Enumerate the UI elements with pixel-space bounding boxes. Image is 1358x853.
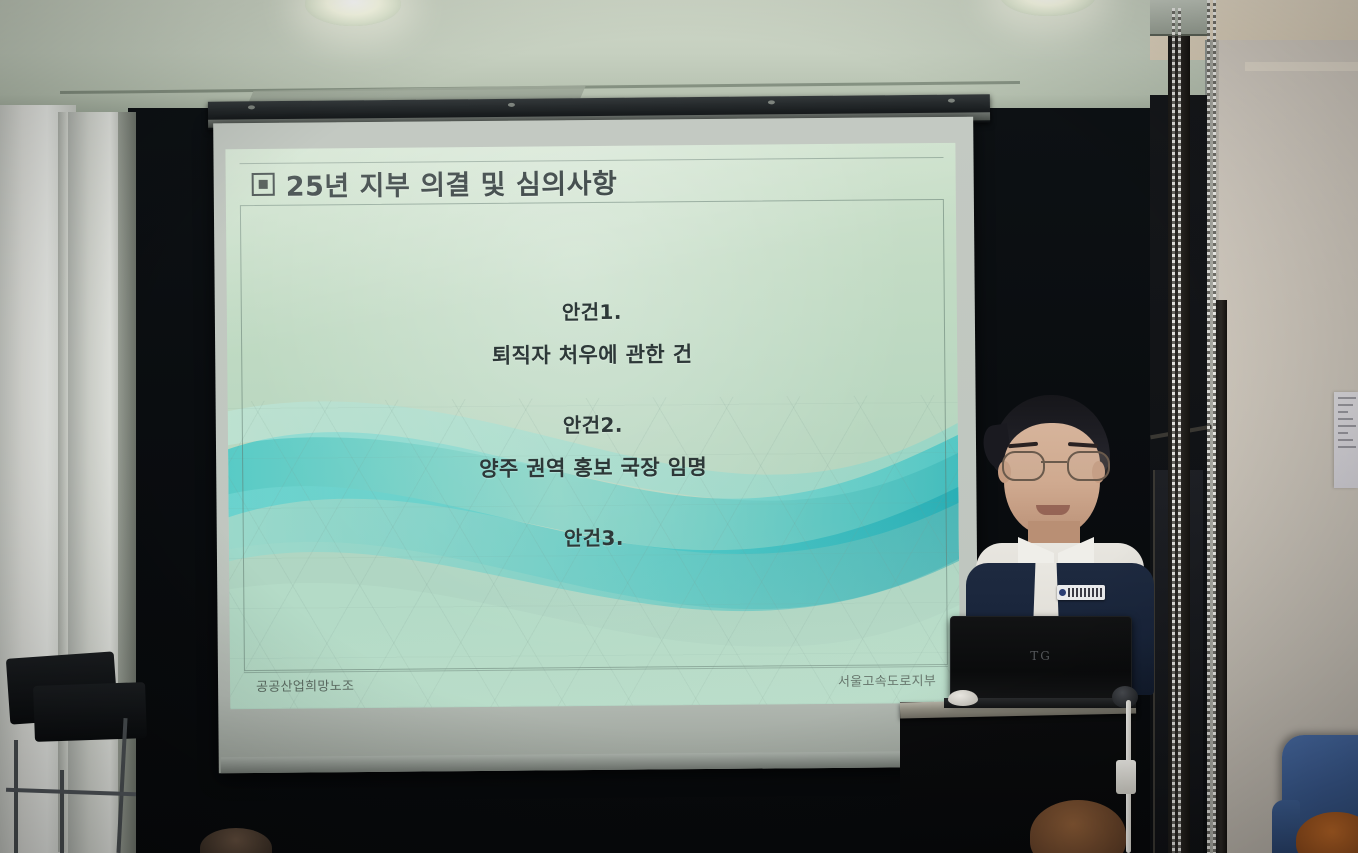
left-pillar-shadow (118, 112, 136, 853)
power-adapter-brick (1116, 760, 1136, 794)
projected-slide: 25년 지부 의결 및 심의사항 안건1. 퇴직자 처우에 관한 건 안건2. … (225, 143, 960, 709)
desk-object (1112, 686, 1138, 708)
glasses-icon (998, 451, 1110, 477)
slide-agenda-list: 안건1. 퇴직자 처우에 관한 건 안건2. 양주 권역 홍보 국장 임명 안건… (227, 293, 960, 594)
agenda-text (229, 562, 959, 568)
agenda-number: 안건3. (229, 519, 959, 554)
blind-pull-chain[interactable] (1213, 0, 1216, 853)
presenter-mouth (1036, 505, 1070, 515)
agenda-text: 퇴직자 처우에 관한 건 (227, 336, 957, 372)
slide-title: 25년 지부 의결 및 심의사항 (252, 162, 618, 204)
projector-screen: 25년 지부 의결 및 심의사항 안건1. 퇴직자 처우에 관한 건 안건2. … (213, 117, 979, 774)
agenda-number: 안건1. (227, 293, 957, 328)
right-wall-trim (1245, 62, 1358, 71)
footer-left-text: 공공산업희망노조 (256, 675, 354, 695)
agenda-text: 양주 권역 홍보 국장 임명 (228, 449, 958, 485)
footer-right-text: 서울고속도로지부 (838, 670, 936, 690)
presentation-room-photo: 25년 지부 의결 및 심의사항 안건1. 퇴직자 처우에 관한 건 안건2. … (0, 0, 1358, 853)
filled-square-bullet-icon (252, 173, 275, 196)
window-frame (1215, 300, 1227, 853)
agenda-number: 안건2. (228, 406, 958, 441)
blind-pull-chain[interactable] (1207, 0, 1210, 853)
agenda-item: 안건1. 퇴직자 처우에 관한 건 (227, 293, 958, 372)
agenda-item: 안건2. 양주 권역 홍보 국장 임명 (228, 406, 959, 485)
agenda-item: 안건3. (229, 519, 959, 554)
chair-leg (60, 770, 64, 853)
laptop[interactable]: TG (950, 616, 1130, 708)
chair-leg (14, 740, 18, 853)
laptop-lid: TG (950, 616, 1132, 702)
union-name-badge (1057, 585, 1105, 600)
wall-notice-paper (1334, 392, 1358, 488)
slide-title-text: 25년 지부 의결 및 심의사항 (286, 162, 618, 204)
foreground-chair (33, 682, 147, 742)
computer-mouse[interactable] (948, 690, 978, 706)
blind-pull-chain[interactable] (1178, 8, 1181, 853)
blind-pull-chain[interactable] (1172, 8, 1175, 853)
laptop-brand-logo: TG (951, 649, 1131, 663)
